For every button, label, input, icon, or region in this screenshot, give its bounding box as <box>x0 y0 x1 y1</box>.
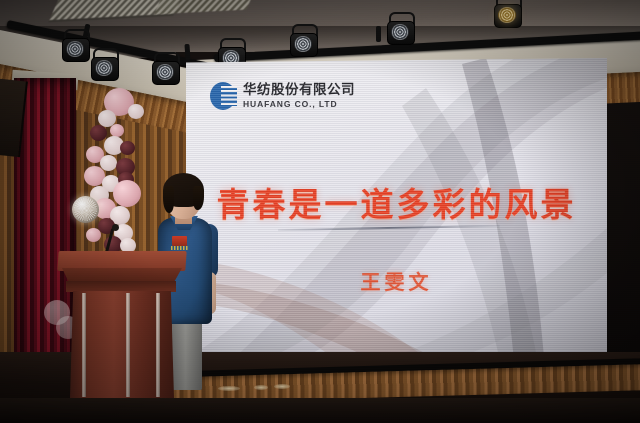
brand-name-en: HUAFANG CO., LTD <box>243 99 355 109</box>
floor-foreground <box>0 398 640 423</box>
slide-speaker-name: 王雯文 <box>186 266 607 295</box>
podium-trim-strip <box>156 293 160 397</box>
truss-drop-2 <box>184 44 190 60</box>
podium-trim-strip <box>126 293 130 397</box>
podium-trim-strip <box>82 293 86 397</box>
par-can-6 <box>387 19 413 43</box>
brand-name-cn: 华纺股份有限公司 <box>243 83 355 97</box>
apron-light-reflection <box>254 385 268 390</box>
balloon <box>90 125 107 141</box>
apron-light-reflection <box>274 384 290 389</box>
balloon <box>120 141 135 155</box>
par-can-1 <box>62 36 88 60</box>
par-can-3 <box>152 59 178 83</box>
balloon-confetti <box>72 196 99 223</box>
microphone-icon <box>112 224 119 231</box>
par-can-2 <box>91 55 117 79</box>
balloon <box>113 180 141 207</box>
par-can-7-warm <box>494 2 520 26</box>
truss-drop-3 <box>376 26 381 42</box>
balloon <box>128 104 144 119</box>
balloon <box>86 228 101 242</box>
apron-light-reflection <box>218 386 240 391</box>
par-can-5 <box>290 31 316 55</box>
podium-band <box>66 281 176 292</box>
led-presentation-screen: 华纺股份有限公司 HUAFANG CO., LTD 青春是一道多彩的风景 王雯文 <box>186 58 607 382</box>
huafang-circular-logo-icon <box>210 82 236 110</box>
brand-logo-block: 华纺股份有限公司 HUAFANG CO., LTD <box>210 82 355 110</box>
presenter-hair-left <box>163 186 174 213</box>
slide-title: 青春是一道多彩的风景 <box>186 178 607 226</box>
presenter-chest-badge <box>172 236 187 246</box>
photo-scene: 华纺股份有限公司 HUAFANG CO., LTD 青春是一道多彩的风景 王雯文 <box>0 0 640 423</box>
